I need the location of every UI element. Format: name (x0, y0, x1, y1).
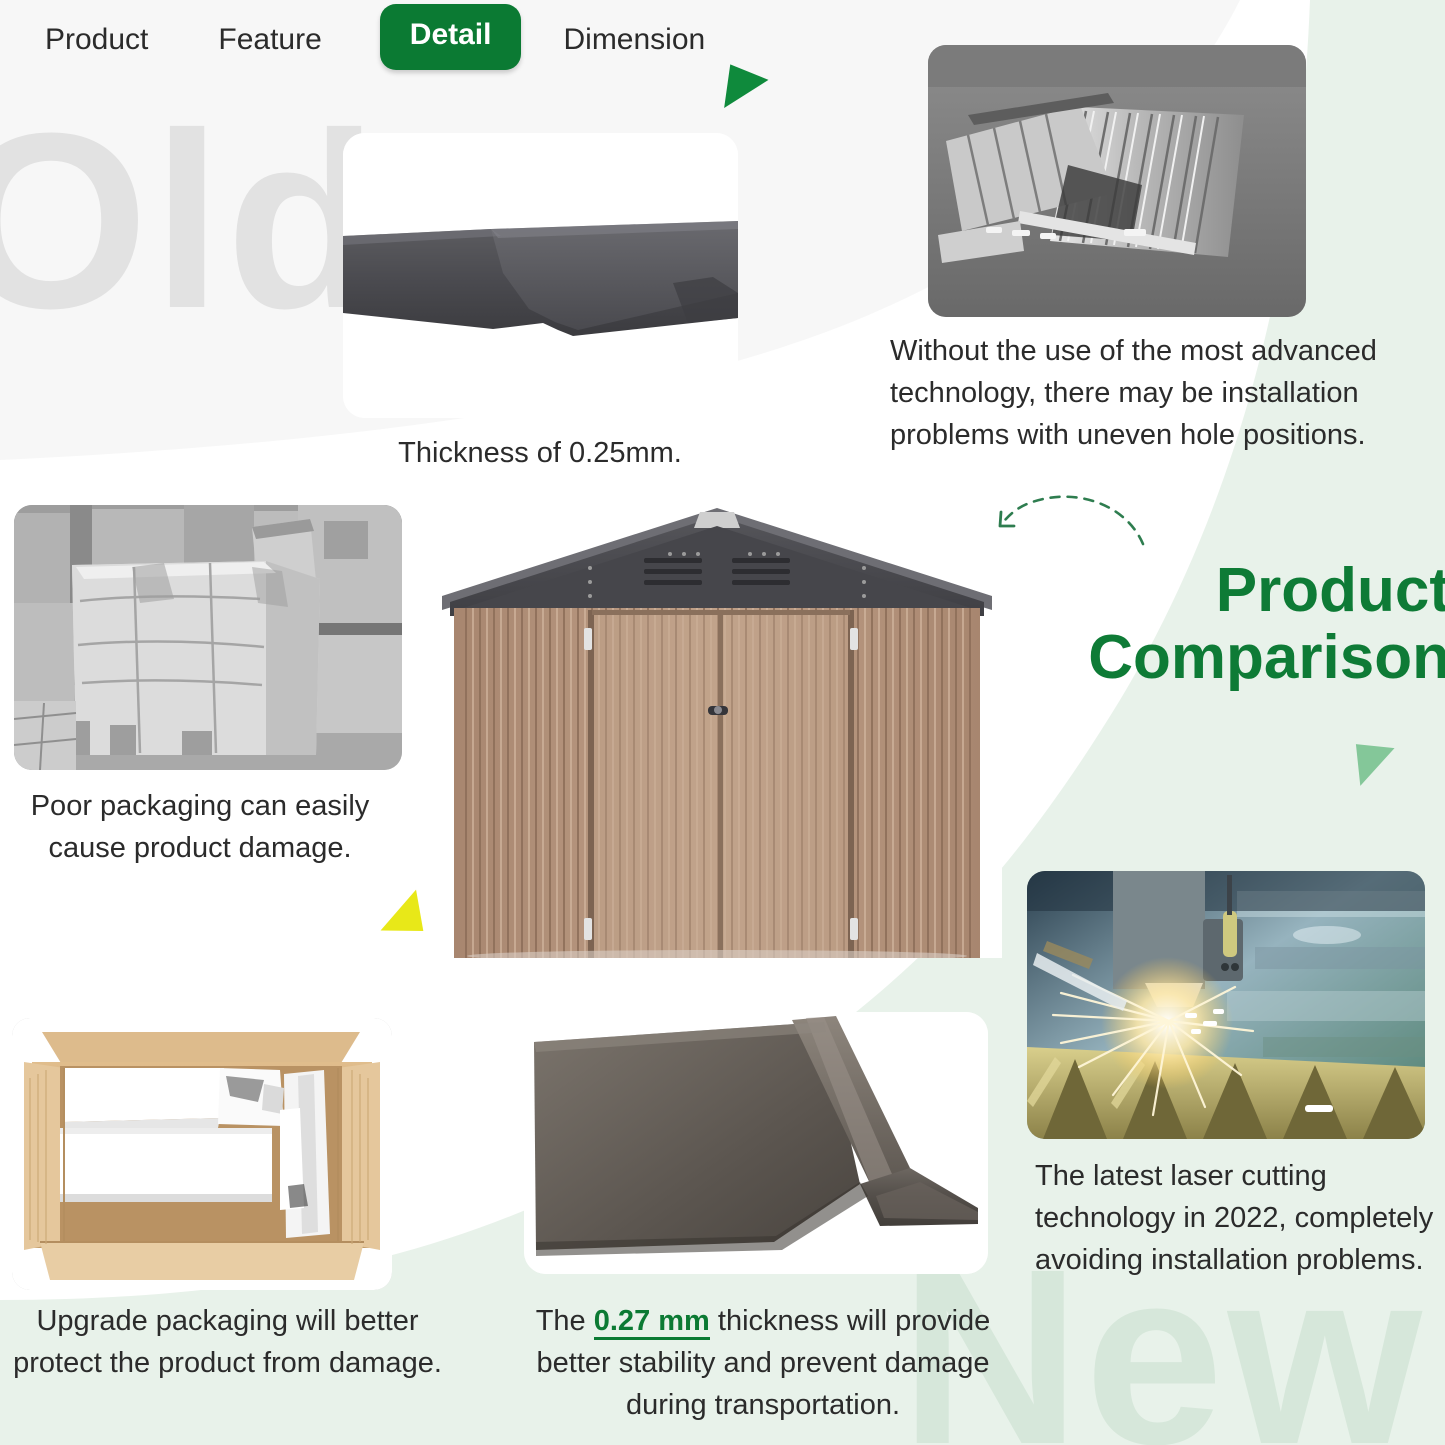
old-thin-metal-sheet-photo (343, 133, 738, 418)
collapsed-metal-roof-photo (928, 45, 1306, 317)
triangle-pointer-green-icon (724, 64, 770, 113)
new-packaging-caption-line-2: protect the product from damage. (0, 1342, 455, 1384)
triangle-pointer-yellow-icon (375, 890, 424, 939)
brown-metal-garden-shed-photo (432, 498, 1002, 958)
tab-detail[interactable]: Detail (380, 4, 522, 70)
old-packaging-caption-line-1: Poor packaging can easily (0, 785, 400, 827)
section-tabs: Product Feature Detail Dimension (0, 0, 760, 80)
new-thick-metal-sheet-photo (524, 1012, 988, 1274)
page-title-line-2: Comparison (1050, 625, 1445, 692)
old-thin-sheet-card (343, 133, 738, 418)
infographic-page: Old New Product Feature Detail Dimension (0, 0, 1445, 1445)
new-laser-caption: The latest laser cutting technology in 2… (1035, 1155, 1435, 1281)
old-packaging-caption: Poor packaging can easily cause product … (0, 785, 400, 869)
new-packaging-caption: Upgrade packaging will better protect th… (0, 1300, 455, 1384)
old-roof-damage-caption: Without the use of the most advanced tec… (890, 330, 1395, 456)
page-title-line-1: Product (1050, 558, 1445, 625)
new-thickness-caption: The 0.27 mm thickness will provide bette… (498, 1300, 1028, 1426)
new-thickness-caption-pre: The (536, 1305, 594, 1337)
old-thickness-caption: Thickness of 0.25mm. (330, 432, 750, 474)
new-thick-sheet-card (524, 1012, 988, 1274)
page-title: Product Comparison (1050, 558, 1445, 692)
new-packaging-caption-line-1: Upgrade packaging will better (0, 1300, 455, 1342)
thickness-value-highlight: 0.27 mm (594, 1305, 710, 1340)
tab-dimension[interactable]: Dimension (563, 23, 705, 57)
dashed-curved-arrow-green-icon (975, 478, 1160, 563)
tab-feature[interactable]: Feature (218, 23, 321, 57)
watermark-old: Old (0, 96, 383, 346)
tab-product[interactable]: Product (45, 23, 148, 57)
laser-cutting-machine-photo (1027, 871, 1425, 1139)
poor-packaging-boxes-photo (14, 505, 402, 770)
old-packaging-caption-line-2: cause product damage. (0, 827, 400, 869)
triangle-pointer-light-green-icon (1356, 740, 1398, 786)
upgraded-packaging-open-box-photo (12, 1018, 392, 1290)
